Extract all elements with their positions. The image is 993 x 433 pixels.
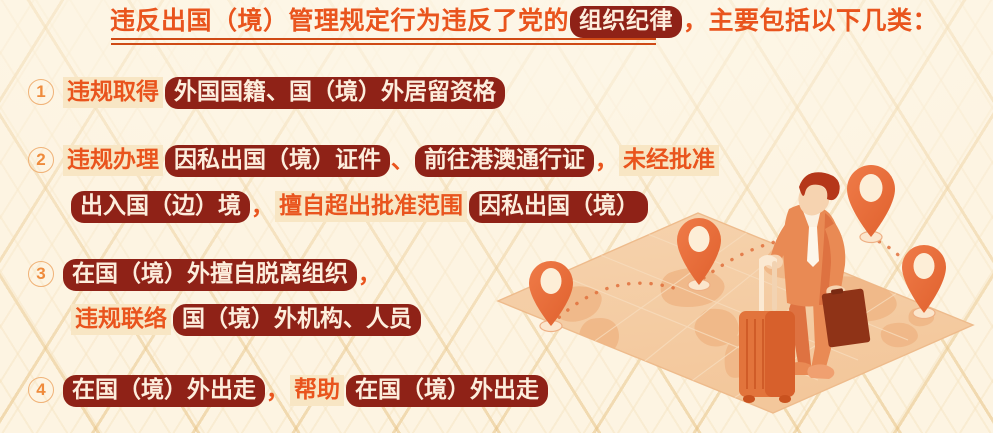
underline-line-1 bbox=[111, 38, 656, 40]
item-2-pill-4: 因私出国（境） bbox=[469, 191, 648, 223]
item-4-pill-1: 在国（境）外出走 bbox=[63, 375, 265, 407]
title-lead: 违反出国（境）管理规定行为违反了党的 bbox=[110, 8, 569, 35]
item-number-3: 3 bbox=[28, 261, 54, 287]
item-2-pill-1: 因私出国（境）证件 bbox=[165, 145, 390, 177]
item-number-4: 4 bbox=[28, 377, 54, 403]
item-4-sep-1: ， bbox=[266, 378, 289, 403]
list-item-3-line-2: 违规联络国（境）外机构、人员 bbox=[70, 303, 422, 337]
item-4-highlight-1: 帮助 bbox=[290, 375, 344, 406]
text-content: 违反出国（境）管理规定行为违反了党的组织纪律，主要包括以下几类： 1违规取得外国… bbox=[0, 0, 993, 433]
item-number-2: 2 bbox=[28, 147, 54, 173]
item-2-pill-2: 前往港澳通行证 bbox=[415, 145, 594, 177]
title-double-underline bbox=[111, 38, 656, 45]
item-3-sep-1: ， bbox=[358, 262, 381, 287]
list-item-2-line-2: 出入国（边）境，擅自超出批准范围因私出国（境） bbox=[70, 190, 649, 224]
list-item-4: 4在国（境）外出走，帮助在国（境）外出走 bbox=[28, 374, 549, 408]
item-2-sep-2: ， bbox=[595, 148, 618, 173]
poster-canvas: 违反出国（境）管理规定行为违反了党的组织纪律，主要包括以下几类： 1违规取得外国… bbox=[0, 0, 993, 433]
list-item-1: 1违规取得外国国籍、国（境）外居留资格 bbox=[28, 76, 506, 110]
item-1-pill-1: 外国国籍、国（境）外居留资格 bbox=[165, 77, 505, 109]
title-emphasis-pill: 组织纪律 bbox=[570, 6, 682, 38]
item-1-highlight-1: 违规取得 bbox=[63, 77, 163, 108]
item-2-highlight-2: 未经批准 bbox=[619, 145, 719, 176]
item-3-pill-1: 在国（境）外擅自脱离组织 bbox=[63, 259, 357, 291]
item-4-pill-2: 在国（境）外出走 bbox=[346, 375, 548, 407]
title-tail: ，主要包括以下几类： bbox=[683, 8, 938, 35]
item-2-sep-3: ， bbox=[251, 194, 274, 219]
item-2-sep-1: 、 bbox=[391, 148, 414, 173]
list-item-2: 2违规办理因私出国（境）证件、前往港澳通行证，未经批准 bbox=[28, 144, 720, 178]
underline-line-2 bbox=[111, 43, 656, 45]
page-title: 违反出国（境）管理规定行为违反了党的组织纪律，主要包括以下几类： bbox=[110, 6, 938, 38]
item-2-highlight-3: 擅自超出批准范围 bbox=[275, 191, 467, 222]
item-3-pill-2: 国（境）外机构、人员 bbox=[173, 304, 421, 336]
item-2-pill-3: 出入国（边）境 bbox=[71, 191, 250, 223]
item-number-1: 1 bbox=[28, 79, 54, 105]
item-3-highlight-1: 违规联络 bbox=[71, 304, 171, 335]
item-2-highlight-1: 违规办理 bbox=[63, 145, 163, 176]
list-item-3: 3在国（境）外擅自脱离组织， bbox=[28, 258, 381, 292]
